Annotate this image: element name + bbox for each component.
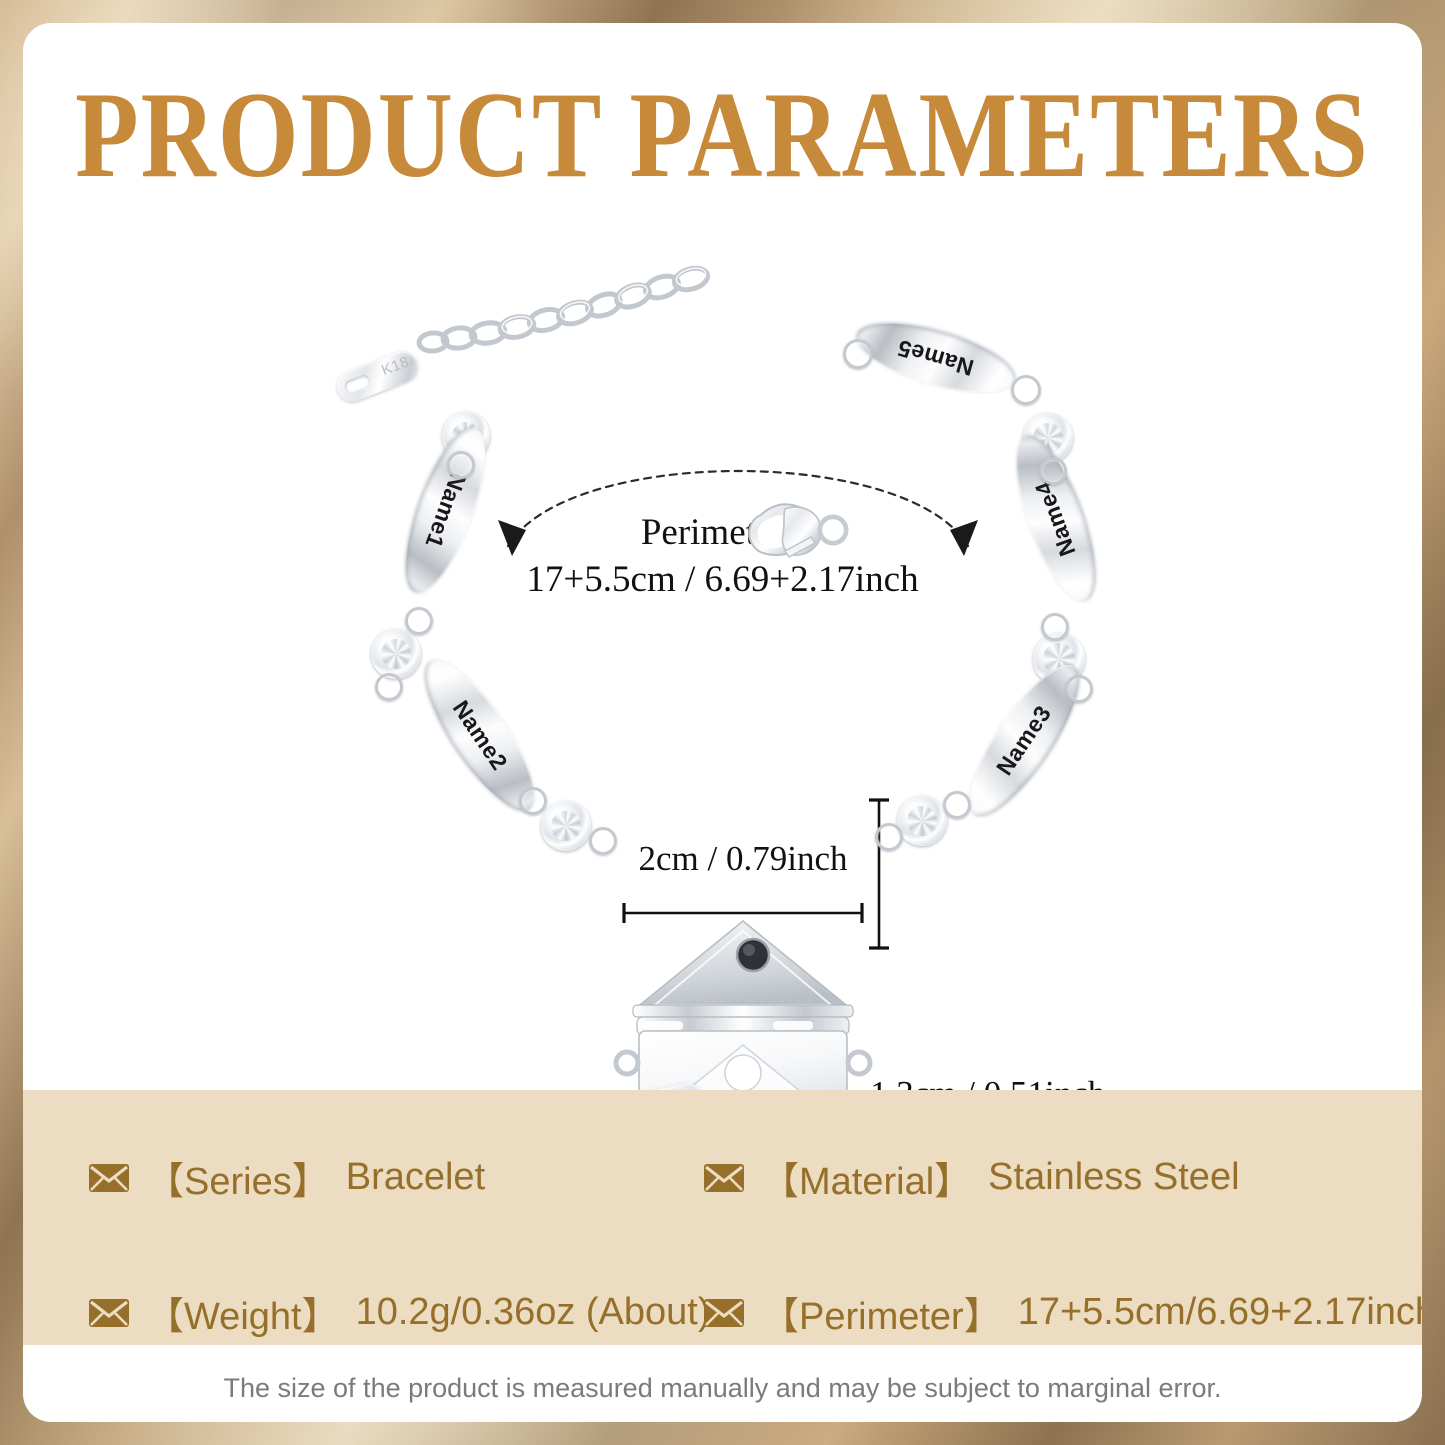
envelope-icon xyxy=(88,1163,130,1193)
spec-value-perimeter: 17+5.5cm/6.69+2.17inch xyxy=(1018,1291,1422,1334)
gold-frame-background: PRODUCT PARAMETERS Perimeter : 17+5.5cm … xyxy=(0,0,1445,1445)
jump-ring xyxy=(1041,613,1069,641)
envelope-icon xyxy=(703,1163,745,1193)
quality-tag-label: K18 xyxy=(379,353,411,379)
height-dimension-line xyxy=(866,795,892,953)
lobster-clasp xyxy=(741,485,871,575)
jump-ring xyxy=(519,787,547,815)
jump-ring xyxy=(843,339,873,369)
spec-key-material: 【Material】 xyxy=(761,1150,972,1205)
cz-stone xyxy=(897,796,947,846)
jump-ring xyxy=(589,827,617,855)
tag-slot xyxy=(343,373,372,394)
disclaimer-text: The size of the product is measured manu… xyxy=(23,1373,1422,1404)
spec-key-weight: 【Weight】 xyxy=(146,1285,340,1340)
width-dimension-label: 2cm / 0.79inch xyxy=(583,839,903,879)
extender-chain xyxy=(403,251,713,381)
name-plate-5: Name5 xyxy=(849,309,1022,406)
product-parameter-card: PRODUCT PARAMETERS Perimeter : 17+5.5cm … xyxy=(23,23,1422,1422)
spec-value-weight: 10.2g/0.36oz (About) xyxy=(356,1291,711,1334)
product-illustration: Perimeter : 17+5.5cm / 6.69+2.17inch 2cm… xyxy=(23,213,1422,1083)
specifications-band: 【Series】 Bracelet 【Material】 Stainless S… xyxy=(23,1090,1422,1345)
jump-ring xyxy=(1065,675,1093,703)
jump-ring xyxy=(375,673,403,701)
spec-item-series: 【Series】 Bracelet xyxy=(88,1150,485,1205)
envelope-icon xyxy=(703,1298,745,1328)
spec-value-series: Bracelet xyxy=(346,1156,485,1199)
perimeter-label: Perimeter : xyxy=(23,511,1422,554)
spec-key-series: 【Series】 xyxy=(146,1150,330,1205)
spec-item-perimeter: 【Perimeter】 17+5.5cm/6.69+2.17inch xyxy=(703,1285,1422,1340)
jump-ring xyxy=(875,823,903,851)
spec-item-weight: 【Weight】 10.2g/0.36oz (About) xyxy=(88,1285,711,1340)
jump-ring xyxy=(1039,457,1067,485)
spec-value-material: Stainless Steel xyxy=(988,1156,1239,1199)
jump-ring xyxy=(1011,375,1041,405)
jump-ring xyxy=(447,451,475,479)
name-plate-5-label: Name5 xyxy=(849,309,1022,406)
page-title: PRODUCT PARAMETERS xyxy=(23,71,1422,200)
jump-ring xyxy=(405,607,433,635)
spec-key-perimeter: 【Perimeter】 xyxy=(761,1285,1002,1340)
spec-item-material: 【Material】 Stainless Steel xyxy=(703,1150,1240,1205)
perimeter-value: 17+5.5cm / 6.69+2.17inch xyxy=(23,558,1422,601)
cz-stone xyxy=(541,801,591,851)
quality-tag: K18 xyxy=(332,347,422,406)
jump-ring xyxy=(943,791,971,819)
envelope-icon xyxy=(88,1298,130,1328)
